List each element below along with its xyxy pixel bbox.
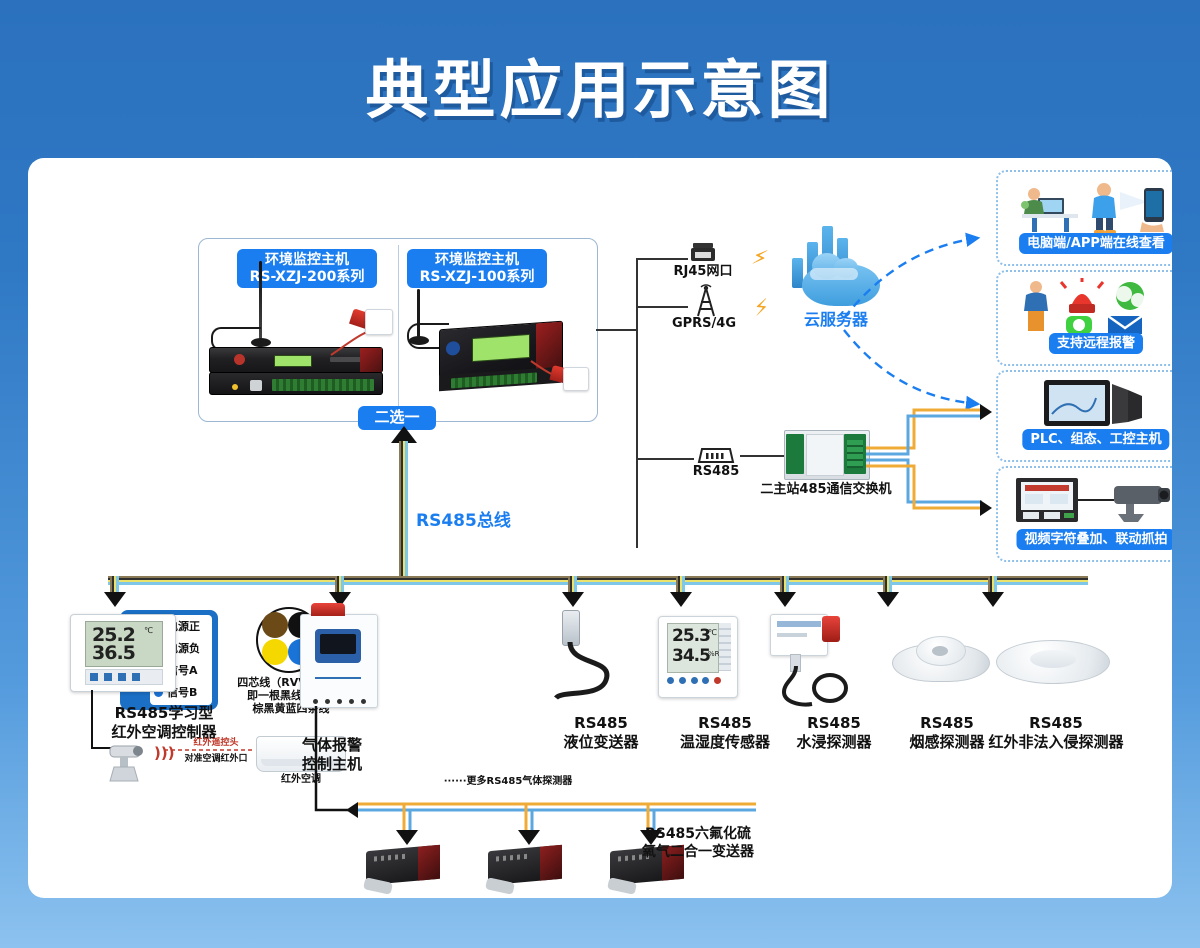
net-trunk-vline	[636, 258, 638, 548]
gprs-branch-line	[636, 306, 688, 308]
cloud-to-panel-arrows	[838, 218, 998, 418]
host-100-label: 环境监控主机 RS-XZJ-100系列	[407, 249, 547, 288]
panel-remote-alarm-label: 支持远程报警	[1049, 333, 1143, 354]
panel3-arrow	[980, 404, 992, 420]
temp-humidity-sensor-device: 25.3 ℃ 34.5 %RH	[658, 616, 738, 698]
ir-ac-controller-device: 25.2 ℃ 36.5	[70, 614, 176, 692]
ir-intrusion-detector-device	[996, 630, 1108, 688]
gprs-label: GPRS/4G	[654, 316, 754, 332]
ir-ac-temp-unit: ℃	[144, 626, 153, 635]
rj45-label: RJ45网口	[656, 264, 750, 280]
panel-video-overlay[interactable]: 视频字符叠加、联动抓拍	[996, 466, 1172, 562]
gas-detector-arrow-2	[518, 830, 540, 845]
panel-remote-alarm[interactable]: 支持远程报警	[996, 270, 1172, 366]
switch-to-panel-lines	[866, 396, 998, 516]
core-yellow	[262, 639, 288, 665]
drop-arrow-7	[982, 592, 1004, 607]
diagram-canvas: 环境监控主机 RS-XZJ-200系列 环境监控主机 RS-XZJ-100系列	[28, 158, 1172, 898]
ir-aim-note: 对准空调红外口	[170, 754, 262, 765]
bus-horizontal-cable	[108, 576, 1088, 585]
remote-alarm-icon	[1014, 278, 1172, 338]
th-humi-value: 34.5	[672, 646, 710, 666]
gas-alarm-controller-device	[300, 614, 378, 708]
panel-industrial-pc-label: PLC、组态、工控主机	[1022, 429, 1169, 450]
ir-remote-head-icon	[104, 740, 156, 788]
water-leak-detector-device	[766, 614, 852, 708]
lightning-bolt-icon: ⚡	[753, 297, 771, 321]
lightning-bolt-icon: ⚡	[750, 247, 770, 272]
industrial-pc-icon	[1042, 378, 1154, 432]
panel-pc-app-viewing[interactable]: 电脑端/APP端在线查看	[996, 170, 1172, 266]
sf6-transmitter-caption: RS485六氟化硫 氧气二合一变送器	[608, 826, 788, 861]
more-gas-detectors-note: ······更多RS485气体探测器	[408, 776, 608, 788]
drop-arrow-6	[877, 592, 899, 607]
th-temp-unit: ℃	[708, 628, 717, 637]
page-title: 典型应用示意图	[0, 40, 1200, 131]
core-brown	[262, 612, 288, 638]
rs485-branch-line	[636, 458, 694, 460]
drop-arrow-1	[104, 592, 126, 607]
video-overlay-camera-icon	[1014, 474, 1172, 532]
gas-detector-arrow-1	[396, 830, 418, 845]
rs485-port-label: RS485	[678, 464, 754, 480]
alarm-beacon-icon	[311, 603, 345, 616]
th-temp-value: 25.3	[672, 626, 710, 646]
ir-intrusion-detector-caption: RS485 红外非法入侵探测器	[968, 714, 1144, 752]
drop-arrow-4	[670, 592, 692, 607]
panel-pc-app-viewing-label: 电脑端/APP端在线查看	[1019, 233, 1172, 254]
level-transmitter-device	[536, 610, 628, 706]
bus-vertical-cable	[399, 441, 408, 581]
rj45-branch-line	[636, 258, 688, 260]
drop-arrow-5	[774, 592, 796, 607]
host-divider	[398, 245, 399, 415]
rs485-switch-device	[784, 430, 868, 478]
rs485-to-switch-line	[740, 455, 784, 457]
host-200-label: 环境监控主机 RS-XZJ-200系列	[237, 249, 377, 288]
drop-arrow-3	[562, 592, 584, 607]
smoke-detector-device	[892, 628, 988, 690]
panel-industrial-pc[interactable]: PLC、组态、工控主机	[996, 370, 1172, 462]
ir-beam-line	[164, 746, 256, 754]
panel-video-overlay-label: 视频字符叠加、联动抓拍	[1016, 529, 1172, 550]
ir-ac-humi-value: 36.5	[92, 642, 135, 664]
host-selection-box: 环境监控主机 RS-XZJ-200系列 环境监控主机 RS-XZJ-100系列	[198, 238, 598, 422]
pc-app-viewing-icon	[1016, 180, 1172, 238]
host-to-net-line	[596, 329, 638, 331]
bus-label: RS485总线	[416, 506, 511, 531]
panel4-arrow	[980, 500, 992, 516]
water-leak-detector-caption: RS485 水浸探测器	[760, 714, 908, 752]
